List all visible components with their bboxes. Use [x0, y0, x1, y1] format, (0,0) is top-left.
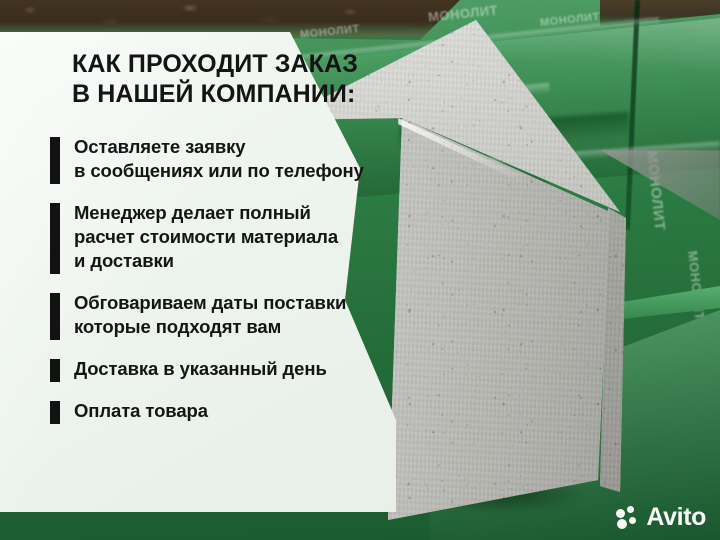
bullet-marker-icon: [50, 359, 60, 382]
list-item-label: Оставляете заявку в сообщениях или по те…: [74, 135, 364, 183]
avito-logo-icon: [616, 506, 640, 530]
list-item: Доставка в указанный день: [50, 357, 400, 382]
avito-watermark: Avito: [616, 505, 706, 530]
list-item-label: Оплата товара: [74, 399, 208, 423]
panel-content: КАК ПРОХОДИТ ЗАКАЗ В НАШЕЙ КОМПАНИИ: Ост…: [0, 32, 400, 512]
list-item: Обговариваем даты поставки которые подхо…: [50, 291, 400, 340]
avito-dot-bottom-right: [629, 517, 636, 524]
bullet-marker-icon: [50, 293, 60, 340]
avito-dot-top-right: [627, 506, 634, 513]
list-item-label: Обговариваем даты поставки которые подхо…: [74, 291, 346, 339]
steps-list: Оставляете заявку в сообщениях или по те…: [50, 135, 400, 441]
avito-dot-top-left: [616, 509, 625, 518]
list-item: Оставляете заявку в сообщениях или по те…: [50, 135, 400, 184]
list-item: Оплата товара: [50, 399, 400, 424]
page-title: КАК ПРОХОДИТ ЗАКАЗ В НАШЕЙ КОМПАНИИ:: [72, 50, 392, 109]
list-item-label: Менеджер делает полный расчет стоимости …: [74, 201, 338, 273]
bullet-marker-icon: [50, 203, 60, 274]
bullet-marker-icon: [50, 401, 60, 424]
bullet-marker-icon: [50, 137, 60, 184]
avito-wordmark: Avito: [646, 505, 706, 530]
banner-image: МОНОЛИТ МОНОЛИТ МОНОЛИТ МОНОЛИТ МОНОЛИТ …: [0, 0, 720, 540]
list-item: Менеджер делает полный расчет стоимости …: [50, 201, 400, 274]
avito-dot-bottom-left: [617, 519, 627, 529]
list-item-label: Доставка в указанный день: [74, 357, 327, 381]
